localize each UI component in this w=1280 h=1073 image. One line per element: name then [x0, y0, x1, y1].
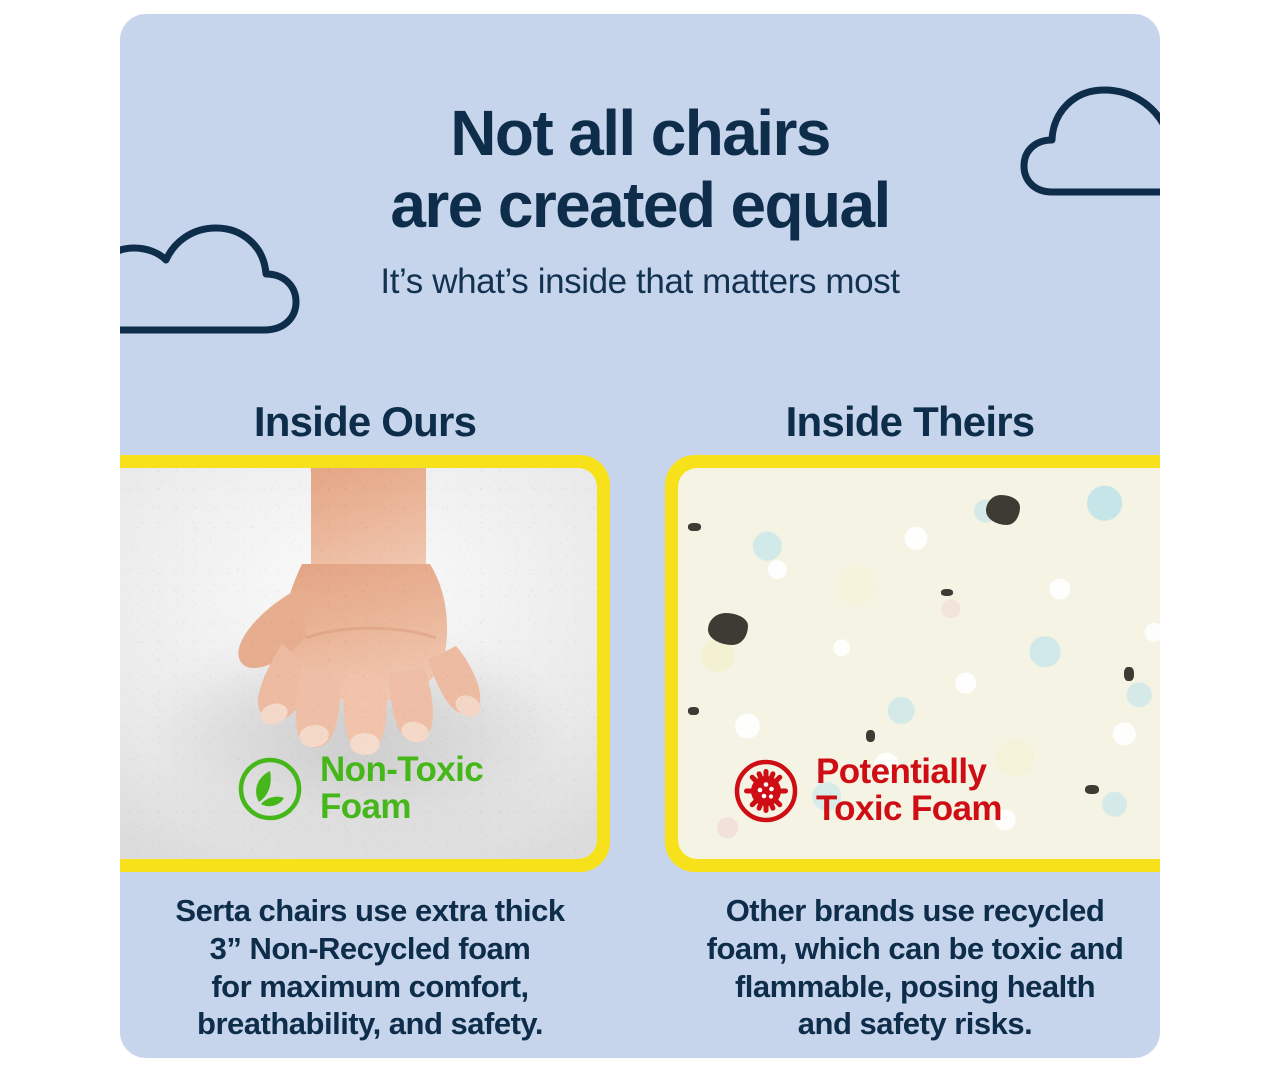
photo-hand-on-foam: Non-Toxic Foam	[120, 468, 597, 859]
foam-debris	[1085, 785, 1099, 794]
photo-recycled-foam: Potentially Toxic Foam	[678, 468, 1160, 859]
column-header-ours: Inside Ours	[120, 398, 610, 446]
foam-debris	[986, 495, 1020, 525]
photo-panel-ours: Non-Toxic Foam	[120, 455, 610, 872]
page-title: Not all chairs are created equal	[120, 98, 1160, 241]
caption-theirs: Other brands use recycled foam, which ca…	[675, 892, 1155, 1043]
caption-ours: Serta chairs use extra thick 3” Non-Recy…	[130, 892, 610, 1043]
foam-debris	[1124, 667, 1134, 681]
photo-panel-theirs: Potentially Toxic Foam	[665, 455, 1160, 872]
page-subtitle: It’s what’s inside that matters most	[120, 262, 1160, 302]
infographic-card: Not all chairs are created equal It’s wh…	[120, 14, 1160, 1058]
headline-line-2: are created equal	[120, 170, 1160, 242]
foam-debris	[688, 707, 699, 715]
foam-debris	[866, 730, 875, 742]
column-header-theirs: Inside Theirs	[665, 398, 1155, 446]
leaf-icon	[237, 756, 303, 822]
badge-label-non-toxic: Non-Toxic Foam	[320, 752, 483, 825]
foam-debris	[708, 613, 748, 645]
foam-debris	[688, 523, 701, 531]
germ-icon	[733, 758, 799, 824]
headline-line-1: Not all chairs	[120, 98, 1160, 170]
badge-non-toxic: Non-Toxic Foam	[237, 752, 483, 825]
foam-debris	[941, 589, 953, 596]
badge-label-potentially-toxic: Potentially Toxic Foam	[816, 754, 1002, 827]
badge-potentially-toxic: Potentially Toxic Foam	[733, 754, 1002, 827]
